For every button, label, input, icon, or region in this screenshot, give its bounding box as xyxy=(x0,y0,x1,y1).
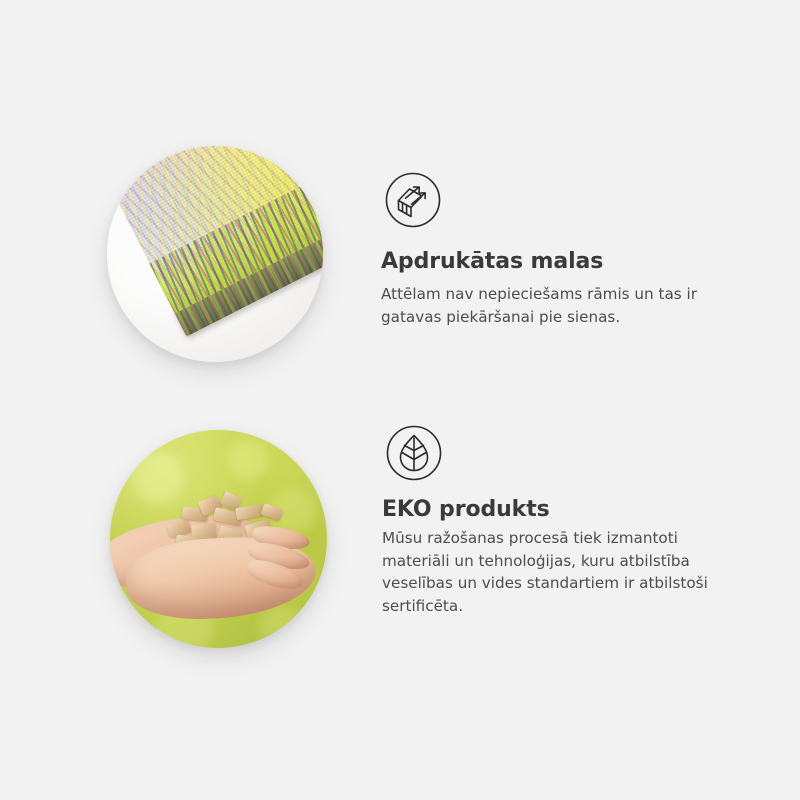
canvas-printed-face xyxy=(107,146,323,314)
wood-chips-in-hands-photo xyxy=(110,430,327,648)
canvas-weave-texture xyxy=(107,146,323,314)
printed-edges-text-column: Apdrukātas malas Attēlam nav nepieciešam… xyxy=(381,168,753,328)
canvas-corner-photo xyxy=(107,146,323,362)
canvas-wrapped-edge-icon xyxy=(381,168,445,232)
feature-description: Attēlam nav nepieciešams rāmis un tas ir… xyxy=(381,283,741,328)
canvas-corner-photo-wrapper xyxy=(107,146,323,362)
feature-description: Mūsu ražošanas procesā tiek izmantoti ma… xyxy=(382,527,740,617)
feature-title: EKO produkts xyxy=(382,497,754,523)
canvas-block xyxy=(107,146,323,362)
eco-scene xyxy=(110,430,327,648)
wood-chips-photo-wrapper xyxy=(110,430,327,648)
feature-eco-product: EKO produkts Mūsu ražošanas procesā tiek… xyxy=(0,415,800,665)
product-features-page: Apdrukātas malas Attēlam nav nepieciešam… xyxy=(0,0,800,800)
eco-product-text-column: EKO produkts Mūsu ražošanas procesā tiek… xyxy=(382,421,754,617)
leaf-icon xyxy=(382,421,446,485)
bokeh-light xyxy=(260,606,304,648)
feature-title: Apdrukātas malas xyxy=(381,249,753,275)
canvas-scene xyxy=(107,146,323,362)
bokeh-light xyxy=(228,440,268,480)
feature-printed-edges: Apdrukātas malas Attēlam nav nepieciešam… xyxy=(0,130,800,380)
fingers xyxy=(246,526,322,596)
